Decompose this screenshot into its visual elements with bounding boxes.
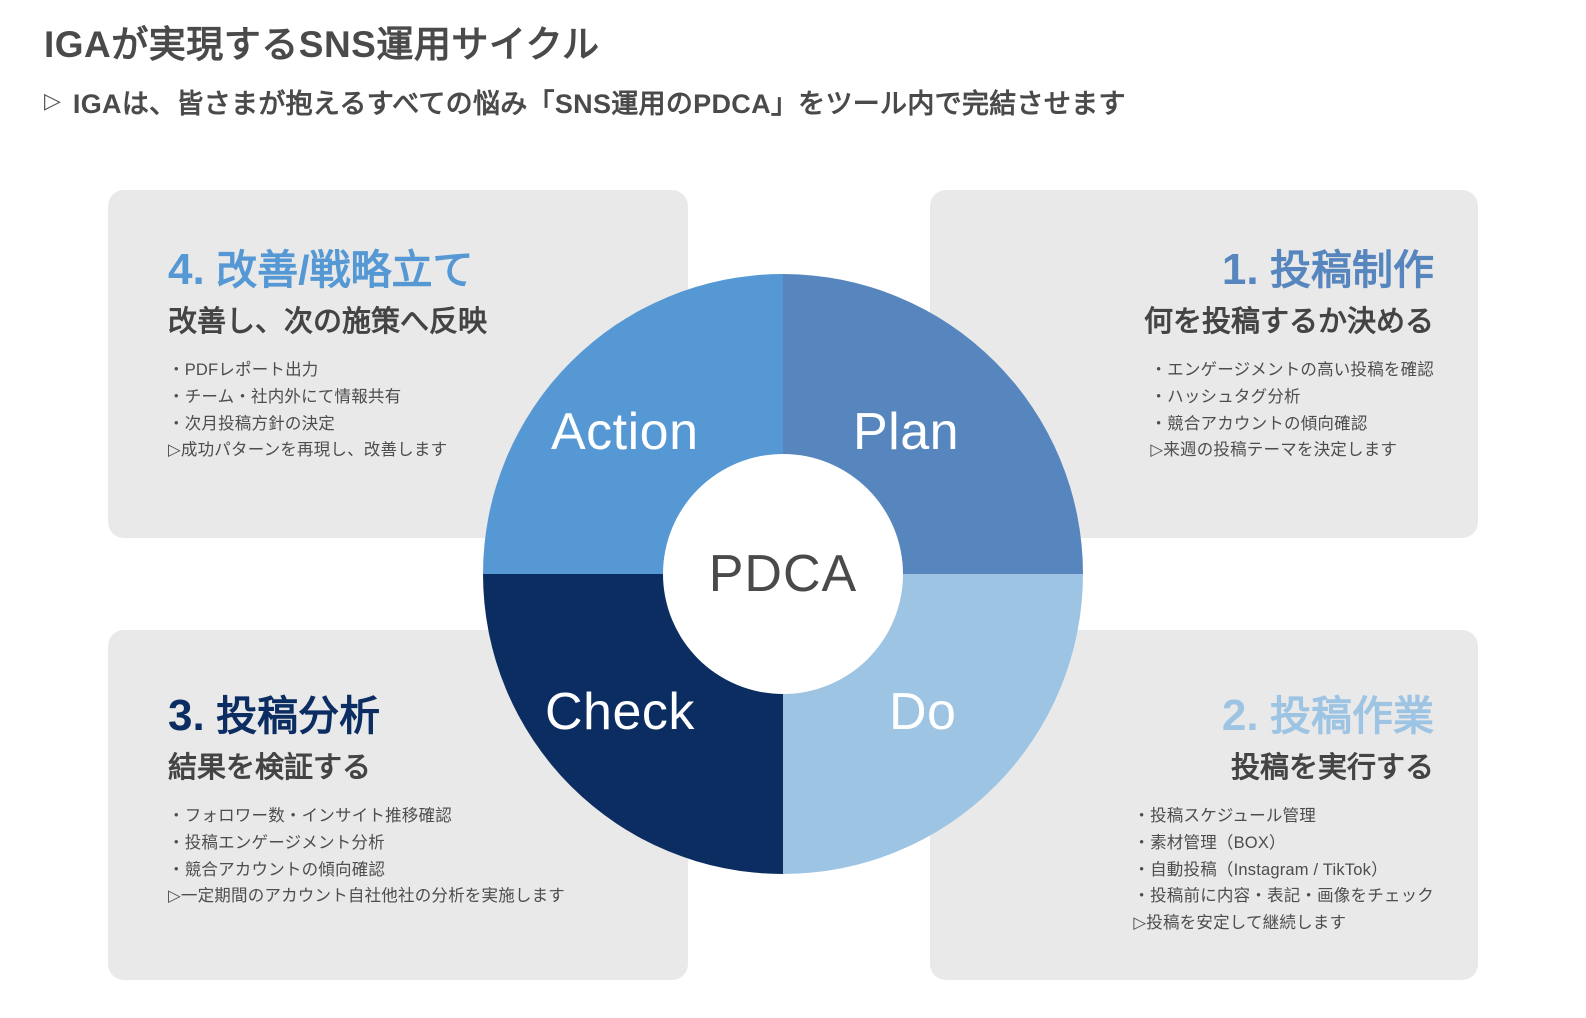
wheel-label-do: Do — [889, 682, 956, 742]
page-subtitle: IGAは、皆さまが抱えるすべての悩み「SNS運用のPDCA」をツール内で完結させ… — [73, 82, 1126, 121]
list-item: ・エンゲージメントの高い投稿を確認 — [1150, 357, 1434, 384]
wheel-label-check: Check — [545, 682, 695, 742]
card-heading-text: 改善/戦略立て — [216, 247, 473, 293]
card-number: 2. — [1222, 691, 1259, 740]
card-heading: 4. 改善/戦略立て — [168, 246, 487, 294]
card-bullet-list: ・エンゲージメントの高い投稿を確認 ・ハッシュタグ分析 ・競合アカウントの傾向確… — [1150, 357, 1434, 464]
card-number: 4. — [168, 245, 205, 294]
list-item: ・チーム・社内外にて情報共有 — [168, 384, 487, 411]
page-subtitle-row: ▷ IGAは、皆さまが抱えるすべての悩み「SNS運用のPDCA」をツール内で完結… — [44, 82, 1126, 121]
pdca-wheel: Action Plan Check Do PDCA — [483, 274, 1083, 874]
triangle-right-icon: ▷ — [44, 90, 61, 112]
list-item: ▷来週の投稿テーマを決定します — [1150, 437, 1434, 464]
list-item: ・次月投稿方針の決定 — [168, 411, 487, 438]
pdca-cycle-slide: IGAが実現するSNS運用サイクル ▷ IGAは、皆さまが抱えるすべての悩み「S… — [0, 0, 1586, 1018]
card-subheading: 何を投稿するか決める — [1144, 305, 1434, 340]
wheel-hub: PDCA — [663, 454, 903, 694]
card-heading-text: 投稿分析 — [216, 693, 380, 739]
card-subheading: 改善し、次の施策へ反映 — [168, 305, 487, 340]
card-content: 2. 投稿作業 投稿を実行する ・投稿スケジュール管理 ・素材管理（BOX） ・… — [1133, 692, 1434, 937]
card-heading: 2. 投稿作業 — [1133, 692, 1434, 740]
wheel-label-action: Action — [551, 402, 699, 462]
list-item: ▷投稿を安定して継続します — [1133, 910, 1434, 937]
list-item: ▷一定期間のアカウント自社他社の分析を実施します — [168, 883, 565, 910]
list-item: ・ハッシュタグ分析 — [1150, 384, 1434, 411]
card-heading-text: 投稿制作 — [1270, 247, 1434, 293]
card-subheading: 投稿を実行する — [1133, 751, 1434, 786]
list-item: ・投稿スケジュール管理 — [1133, 803, 1434, 830]
card-heading-text: 投稿作業 — [1270, 693, 1434, 739]
card-heading: 1. 投稿制作 — [1144, 246, 1434, 294]
card-number: 1. — [1222, 245, 1259, 294]
list-item: ▷成功パターンを再現し、改善します — [168, 437, 487, 464]
list-item: ・自動投稿（Instagram / TikTok） — [1133, 857, 1434, 884]
list-item: ・素材管理（BOX） — [1133, 830, 1434, 857]
card-bullet-list: ・投稿スケジュール管理 ・素材管理（BOX） ・自動投稿（Instagram /… — [1133, 803, 1434, 937]
wheel-hub-label: PDCA — [709, 544, 857, 604]
card-content: 1. 投稿制作 何を投稿するか決める ・エンゲージメントの高い投稿を確認 ・ハッ… — [1144, 246, 1434, 464]
list-item: ・競合アカウントの傾向確認 — [1150, 411, 1434, 438]
card-content: 4. 改善/戦略立て 改善し、次の施策へ反映 ・PDFレポート出力 ・チーム・社… — [168, 246, 487, 464]
list-item: ・PDFレポート出力 — [168, 357, 487, 384]
card-number: 3. — [168, 691, 205, 740]
card-bullet-list: ・PDFレポート出力 ・チーム・社内外にて情報共有 ・次月投稿方針の決定 ▷成功… — [168, 357, 487, 464]
wheel-label-plan: Plan — [853, 402, 959, 462]
page-title: IGAが実現するSNS運用サイクル — [44, 14, 600, 68]
list-item: ・投稿前に内容・表記・画像をチェック — [1133, 883, 1434, 910]
